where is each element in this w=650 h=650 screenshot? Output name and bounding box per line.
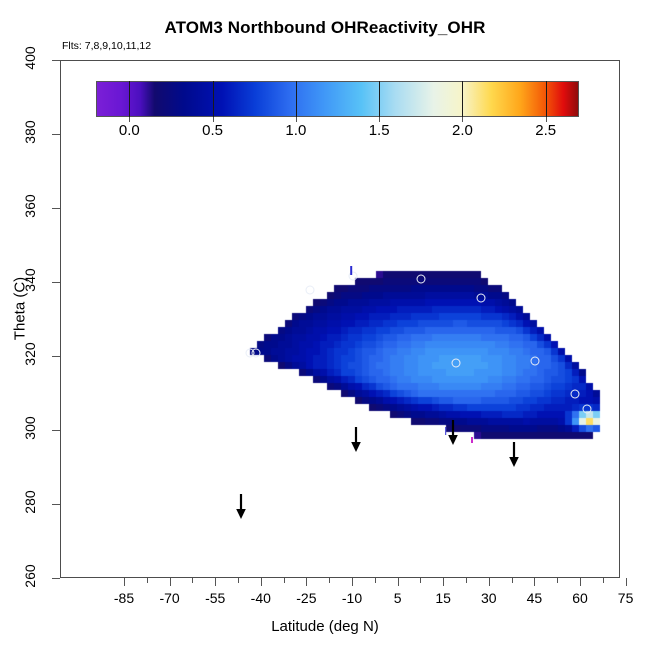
x-tick bbox=[443, 578, 444, 586]
x-tick-label: -40 bbox=[251, 590, 271, 606]
x-tick bbox=[261, 578, 262, 586]
x-tick-minor bbox=[375, 578, 376, 583]
x-tick bbox=[352, 578, 353, 586]
data-speck bbox=[471, 437, 473, 443]
colorbar-tick-label: 1.5 bbox=[369, 122, 390, 139]
y-tick bbox=[52, 282, 60, 283]
colorbar-tick-label: 2.5 bbox=[535, 122, 556, 139]
sample-marker bbox=[531, 356, 540, 365]
x-tick bbox=[489, 578, 490, 586]
profile-arrow bbox=[507, 442, 521, 473]
colorbar-tick-label: 2.0 bbox=[452, 122, 473, 139]
x-tick-label: 60 bbox=[572, 590, 588, 606]
x-tick-label: -55 bbox=[205, 590, 225, 606]
sample-marker bbox=[452, 358, 461, 367]
y-tick bbox=[52, 504, 60, 505]
x-tick-minor bbox=[603, 578, 604, 583]
y-tick-label: 380 bbox=[22, 112, 38, 152]
colorbar[interactable] bbox=[96, 81, 579, 117]
x-tick-label: 5 bbox=[394, 590, 402, 606]
x-tick-minor bbox=[557, 578, 558, 583]
x-tick-label: -85 bbox=[114, 590, 134, 606]
x-tick bbox=[580, 578, 581, 586]
boundary-tick-mark bbox=[351, 266, 353, 275]
x-tick bbox=[124, 578, 125, 586]
x-tick-minor bbox=[420, 578, 421, 583]
x-tick-minor bbox=[147, 578, 148, 583]
colorbar-tick bbox=[379, 81, 380, 117]
x-tick-label: -70 bbox=[159, 590, 179, 606]
x-tick bbox=[170, 578, 171, 586]
y-tick bbox=[52, 578, 60, 579]
colorbar-gradient bbox=[96, 81, 579, 117]
sample-marker bbox=[476, 293, 485, 302]
sample-marker bbox=[583, 404, 592, 413]
colorbar-tick bbox=[546, 81, 547, 117]
y-tick bbox=[52, 208, 60, 209]
y-tick-label: 400 bbox=[22, 38, 38, 78]
colorbar-tick-label: 0.5 bbox=[202, 122, 223, 139]
sample-marker bbox=[417, 275, 426, 284]
x-tick-label: -25 bbox=[296, 590, 316, 606]
x-tick-minor bbox=[284, 578, 285, 583]
sample-marker bbox=[570, 390, 579, 399]
x-tick-label: 30 bbox=[481, 590, 497, 606]
colorbar-tick bbox=[213, 81, 214, 117]
y-tick-label: 300 bbox=[22, 408, 38, 448]
x-tick-label: 15 bbox=[435, 590, 451, 606]
page-title: ATOM3 Northbound OHReactivity_OHR bbox=[0, 18, 650, 38]
x-tick-minor bbox=[192, 578, 193, 583]
colorbar-tick-label: 1.0 bbox=[285, 122, 306, 139]
x-tick bbox=[306, 578, 307, 586]
y-axis-title: Theta (C) bbox=[12, 249, 29, 369]
y-tick-label: 260 bbox=[22, 556, 38, 596]
sample-marker bbox=[306, 286, 315, 295]
colorbar-tick bbox=[129, 81, 130, 117]
y-tick bbox=[52, 356, 60, 357]
profile-arrow bbox=[446, 420, 460, 451]
x-axis-title: Latitude (deg N) bbox=[0, 618, 650, 635]
x-tick-minor bbox=[329, 578, 330, 583]
x-tick bbox=[626, 578, 627, 586]
x-tick bbox=[534, 578, 535, 586]
y-tick-label: 280 bbox=[22, 482, 38, 522]
annotation-flights: Flts: 7,8,9,10,11,12 bbox=[62, 40, 151, 52]
boundary-tick-mark bbox=[445, 427, 447, 435]
x-tick bbox=[215, 578, 216, 586]
y-tick-label: 360 bbox=[22, 186, 38, 226]
colorbar-tick bbox=[462, 81, 463, 117]
colorbar-tick-label: 0.0 bbox=[119, 122, 140, 139]
x-tick-minor bbox=[466, 578, 467, 583]
figure-root: ATOM3 Northbound OHReactivity_OHR Flts: … bbox=[0, 0, 650, 650]
x-tick-label: 45 bbox=[527, 590, 543, 606]
x-tick bbox=[398, 578, 399, 586]
colorbar-tick bbox=[296, 81, 297, 117]
x-tick-label: 75 bbox=[618, 590, 634, 606]
x-tick-minor bbox=[512, 578, 513, 583]
profile-arrow bbox=[349, 427, 363, 458]
sample-marker bbox=[251, 349, 260, 358]
x-tick-minor bbox=[238, 578, 239, 583]
x-tick-label: -10 bbox=[342, 590, 362, 606]
y-tick bbox=[52, 430, 60, 431]
y-tick bbox=[52, 60, 60, 61]
profile-arrow bbox=[234, 494, 248, 525]
y-tick bbox=[52, 134, 60, 135]
